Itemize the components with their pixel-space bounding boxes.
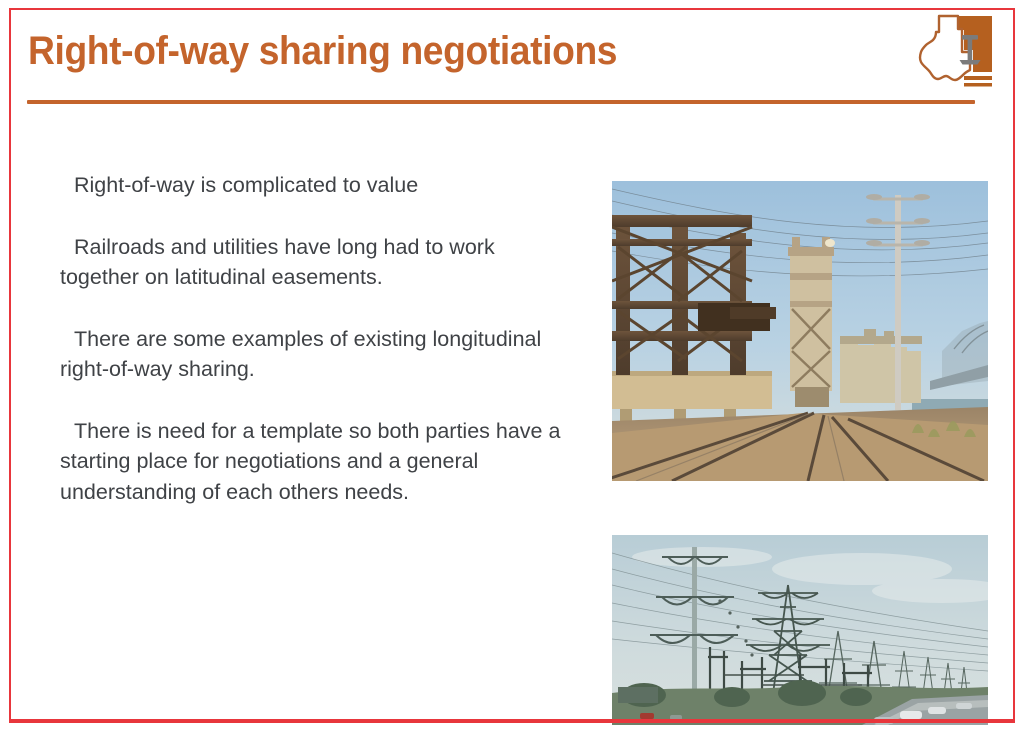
page-title: Right-of-way sharing negotiations	[28, 26, 617, 76]
bullet-paragraph-3: There are some examples of existing long…	[60, 324, 570, 385]
bullet-paragraph-2: Railroads and utilities have long had to…	[60, 232, 570, 293]
slide-body: Right-of-way is complicated to value Rai…	[60, 170, 570, 507]
title-divider	[27, 100, 975, 104]
slide: Right-of-way sharing negotiations	[0, 0, 1024, 741]
transmission-line-corridor-photo	[612, 535, 988, 725]
slide-header: Right-of-way sharing negotiations	[0, 0, 1024, 120]
bullet-paragraph-1: Right-of-way is complicated to value	[60, 170, 570, 201]
railroad-lift-bridge-photo	[612, 181, 988, 481]
bullet-paragraph-4: There is need for a template so both par…	[60, 416, 570, 508]
texas-rail-logo	[918, 10, 996, 105]
